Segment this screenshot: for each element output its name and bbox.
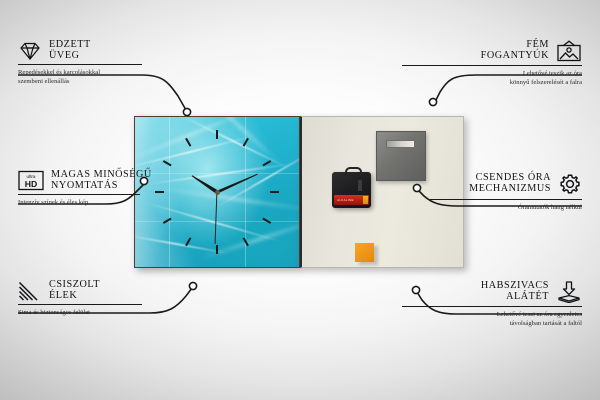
connector-dot-fem-fogantyuk <box>429 98 436 105</box>
clock-hour-hand <box>191 174 218 194</box>
connector-dot-csiszolt-elek <box>189 282 196 289</box>
battery-label: ALKALINE <box>337 198 354 202</box>
callout-title: HABSZIVACS ALÁTÉT <box>481 281 549 302</box>
callout-description: Óramutatók hang nélkül <box>402 203 582 212</box>
callout-title: MAGAS MINŐSÉGŰ NYOMTATÁS <box>51 170 152 191</box>
foam-pad-icon <box>556 281 582 303</box>
infographic-canvas: ALKALINE <box>0 0 600 400</box>
callout-description: Repedésekkel és karcolásokkal szembeni e… <box>18 68 183 86</box>
mechanism-shaft <box>358 180 362 191</box>
callout-title: EDZETT ÜVEG <box>49 40 91 61</box>
callout-rule <box>402 306 582 307</box>
callout-header: FÉM FOGANTYÚK <box>402 40 582 62</box>
callout-csiszolt-elek: CSISZOLT ÉLEK Sima és biztonságos felüle… <box>18 280 183 317</box>
callout-rule <box>18 194 140 195</box>
callout-title: CSENDES ÓRA MECHANIZMUS <box>469 173 551 194</box>
hanger-slot <box>386 140 415 148</box>
connector-dot-edzett-uveg <box>183 108 190 115</box>
clock-tick <box>185 237 191 246</box>
clock-tick <box>185 138 191 147</box>
callout-header: EDZETT ÜVEG <box>18 40 183 61</box>
clock-tick <box>243 237 249 246</box>
callout-edzett-uveg: EDZETT ÜVEG Repedésekkel és karcolásokka… <box>18 40 183 86</box>
svg-text:HD: HD <box>25 179 37 189</box>
callout-header: CSENDES ÓRA MECHANIZMUS <box>402 172 582 196</box>
clock-tick <box>262 160 271 166</box>
callout-header: CSISZOLT ÉLEK <box>18 280 183 301</box>
callout-description: Lehetővé teszi az óra egyenletes távolsá… <box>402 310 582 328</box>
ultra-hd-icon: ultra HD <box>18 170 44 191</box>
clock-tick <box>262 218 271 224</box>
callout-description: Intenzív színek és éles kép <box>18 198 188 207</box>
callout-rule <box>402 65 582 66</box>
callout-rule <box>18 304 142 305</box>
mechanism-hook <box>345 167 362 176</box>
clock-minute-hand <box>216 173 257 194</box>
clock-tick <box>243 138 249 147</box>
clock-mechanism: ALKALINE <box>332 172 371 208</box>
gear-icon <box>558 172 582 196</box>
callout-title: FÉM FOGANTYÚK <box>481 40 549 61</box>
callout-rule <box>430 199 582 200</box>
clock-tick <box>216 130 218 139</box>
clock-tick <box>270 191 279 193</box>
callout-csendes-ora-mechanizmus: CSENDES ÓRA MECHANIZMUS Óramutatók hang … <box>402 172 582 212</box>
callout-fem-fogantyuk: FÉM FOGANTYÚK Lehetővé teszik az óra kön… <box>402 40 582 87</box>
battery: ALKALINE <box>334 195 369 205</box>
polished-edge-icon <box>18 281 42 301</box>
clock-center-cap <box>215 190 220 195</box>
clock-tick <box>216 245 218 254</box>
foam-spacer-pad <box>355 243 374 262</box>
callout-header: ultra HD MAGAS MINŐSÉGŰ NYOMTATÁS <box>18 170 188 191</box>
clock-second-hand <box>214 192 217 244</box>
callout-description: Sima és biztonságos felület <box>18 308 183 317</box>
battery-terminal <box>363 196 368 204</box>
diamond-icon <box>18 41 42 61</box>
callout-header: HABSZIVACS ALÁTÉT <box>402 281 582 303</box>
wall-mount-icon <box>556 40 582 62</box>
callout-description: Lehetővé teszik az óra könnyű felszerelé… <box>402 69 582 87</box>
callout-magas-minosegu-nyomtatas: ultra HD MAGAS MINŐSÉGŰ NYOMTATÁS Intenz… <box>18 170 188 207</box>
callout-title: CSISZOLT ÉLEK <box>49 280 100 301</box>
callout-habszivacs-alatet: HABSZIVACS ALÁTÉT Lehetővé teszi az óra … <box>402 281 582 328</box>
callout-rule <box>18 64 142 65</box>
clock-tick <box>163 160 172 166</box>
clock-tick <box>163 218 172 224</box>
